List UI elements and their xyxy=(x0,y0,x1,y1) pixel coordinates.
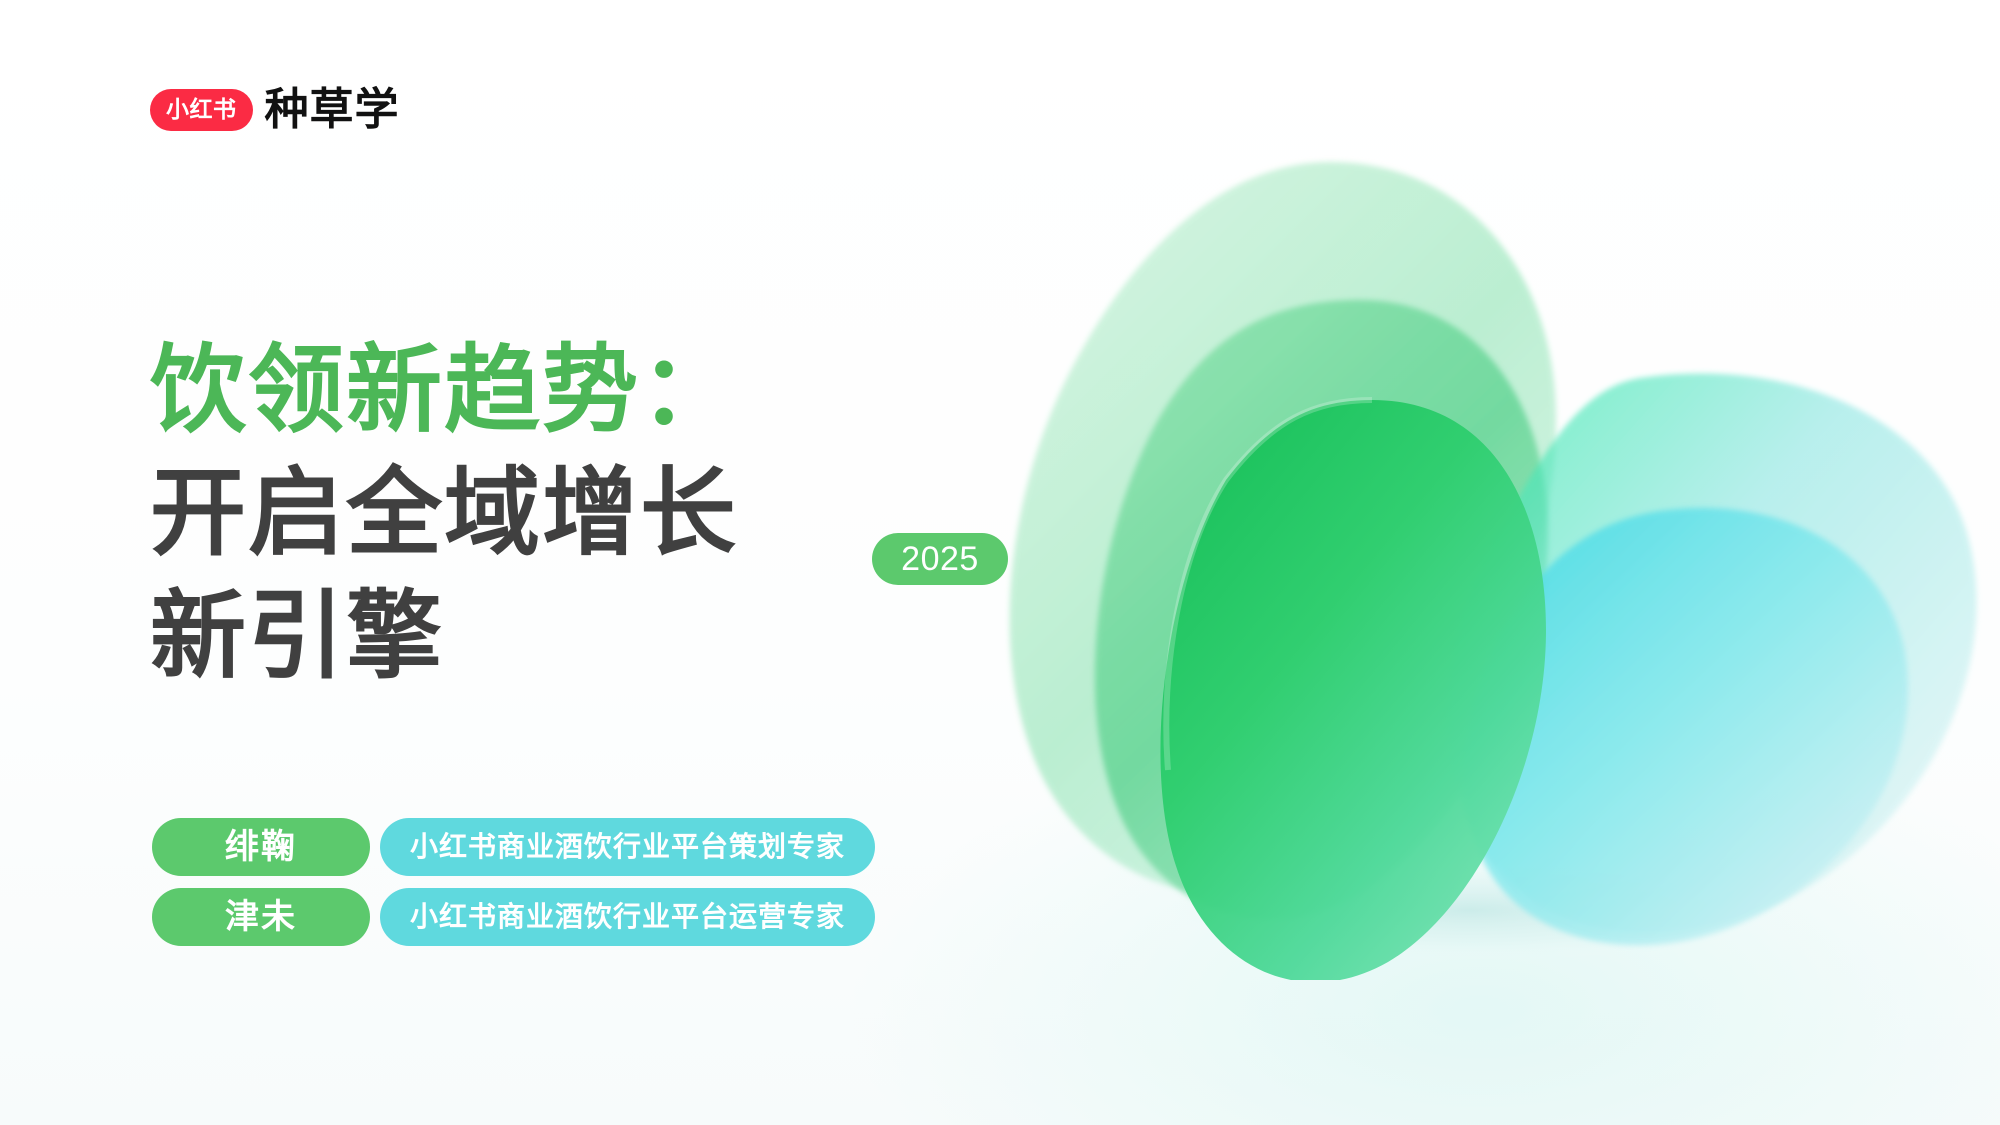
slide-root: 小红书 种草学 饮领新趋势： 开启全域增长 新引擎 2025 绯鞠 小红书商业酒… xyxy=(0,0,2000,1125)
speaker-name-label: 津未 xyxy=(225,900,297,934)
speaker-role-pill: 小红书商业酒饮行业平台运营专家 xyxy=(380,888,875,946)
title-line-1: 饮领新趋势： xyxy=(150,330,930,453)
title-line-2: 开启全域增长 xyxy=(150,453,930,576)
speaker-name-label: 绯鞠 xyxy=(225,830,297,864)
year-badge: 2025 xyxy=(872,533,1008,585)
xiaohongshu-badge-label: 小红书 xyxy=(166,98,237,121)
speaker-name-pill: 津未 xyxy=(152,888,370,946)
speaker-role-label: 小红书商业酒饮行业平台运营专家 xyxy=(410,903,845,931)
speaker-role-pill: 小红书商业酒饮行业平台策划专家 xyxy=(380,818,875,876)
wordmark-label: 种草学 xyxy=(265,88,400,132)
title-line-3: 新引擎 xyxy=(150,576,930,699)
speaker-role-label: 小红书商业酒饮行业平台策划专家 xyxy=(410,833,845,861)
brand-logo: 小红书 种草学 xyxy=(150,88,400,132)
speaker-name-pill: 绯鞠 xyxy=(152,818,370,876)
speaker-list: 绯鞠 小红书商业酒饮行业平台策划专家 津未 小红书商业酒饮行业平台运营专家 xyxy=(152,818,875,946)
page-title: 饮领新趋势： 开启全域增长 新引擎 xyxy=(150,330,930,699)
speaker-row: 津未 小红书商业酒饮行业平台运营专家 xyxy=(152,888,875,946)
xiaohongshu-badge: 小红书 xyxy=(150,89,253,131)
hero-svg xyxy=(1000,150,2000,980)
layered-heart-leaf-graphic xyxy=(1000,150,2000,980)
year-badge-label: 2025 xyxy=(901,542,979,576)
speaker-row: 绯鞠 小红书商业酒饮行业平台策划专家 xyxy=(152,818,875,876)
